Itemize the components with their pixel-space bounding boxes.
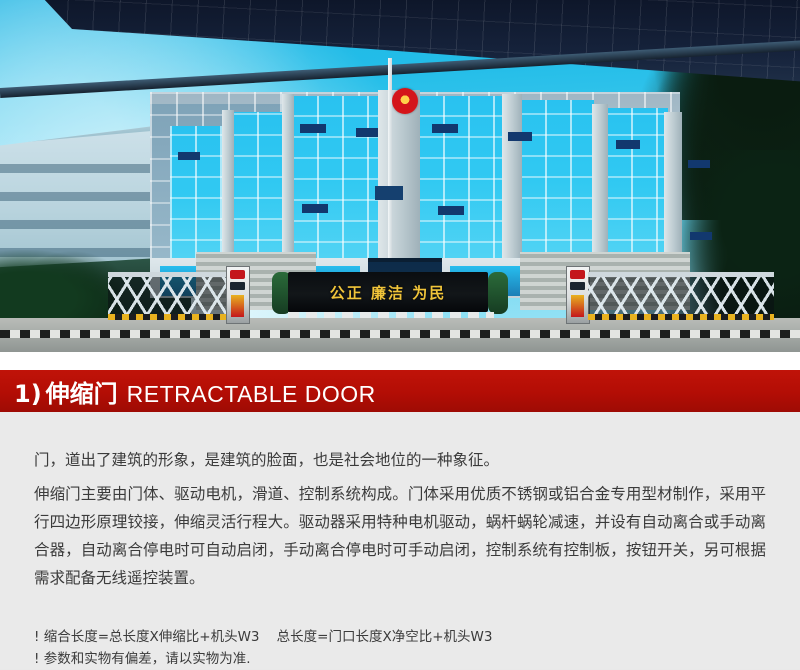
section-banner-inner: 1) 伸缩门 RETRACTABLE DOOR (0, 374, 376, 409)
gate-top-rail (108, 272, 226, 277)
section-title-en: RETRACTABLE DOOR (127, 381, 376, 408)
facade-pier (502, 94, 522, 264)
retractable-gate-right (588, 272, 774, 320)
facade-pier (592, 104, 608, 264)
photo-banner-divider (0, 352, 800, 370)
facade-pier (222, 110, 234, 264)
accent-window (178, 152, 200, 160)
glass-curtain-panel (232, 112, 282, 262)
accent-window (690, 232, 712, 240)
gate-display-icon (570, 282, 585, 290)
accent-window (432, 124, 458, 133)
product-hero-photo: 公正 廉洁 为民 (0, 0, 800, 352)
description-paragraph-2: 伸缩门主要由门体、驱动电机，滑道、控制系统构成。门体采用优质不锈钢或铝合金专用型… (0, 474, 800, 592)
flagpole-fitting (375, 186, 403, 200)
gate-lattice (588, 272, 774, 320)
gate-warning-lamp-icon (570, 270, 585, 279)
glass-curtain-panel (520, 100, 594, 262)
national-emblem-icon (392, 88, 418, 114)
gate-hazard-stripe (571, 295, 584, 317)
accent-window (356, 128, 378, 137)
section-title-cn: 伸缩门 (46, 374, 118, 409)
accent-window (688, 160, 710, 168)
gate-head-unit-left (226, 266, 250, 324)
facade-pier (378, 90, 420, 266)
glass-curtain-panel (170, 126, 222, 262)
retractable-gate-left (108, 272, 226, 320)
facade-pier (282, 94, 294, 266)
spec-note-2: ! 参数和实物有偏差，请以实物为准. (34, 648, 766, 670)
hedge-shrub (488, 272, 508, 314)
gate-warning-lamp-icon (230, 270, 245, 279)
monument-sign: 公正 廉洁 为民 (288, 272, 488, 312)
spec-note-1: ! 缩合长度=总长度X伸缩比+机头W3 总长度=门口长度X净空比+机头W3 (34, 626, 766, 648)
section-banner: 1) 伸缩门 RETRACTABLE DOOR (0, 370, 800, 412)
accent-window (300, 124, 326, 133)
accent-window (616, 140, 640, 149)
monument-sign-text: 公正 廉洁 为民 (330, 282, 446, 303)
gate-bottom-rail (108, 314, 226, 320)
gate-top-rail (588, 272, 774, 277)
glass-curtain-panel (606, 108, 668, 262)
accent-window (302, 204, 328, 213)
gate-display-icon (230, 282, 245, 290)
gate-hazard-stripe (231, 295, 244, 317)
description-content: 门，道出了建筑的形象，是建筑的脸面，也是社会地位的一种象征。 伸缩门主要由门体、… (0, 412, 800, 669)
gate-head-unit-right (566, 266, 590, 324)
gate-bottom-rail (588, 314, 774, 320)
accent-window (438, 206, 464, 215)
accent-window (508, 132, 532, 141)
curb-stripe (0, 330, 800, 338)
facade-pier (664, 112, 682, 264)
glass-curtain-panel (292, 96, 378, 264)
glass-curtain-panel (418, 96, 504, 264)
description-paragraph-1: 门，道出了建筑的形象，是建筑的脸面，也是社会地位的一种象征。 (0, 412, 800, 474)
spec-notes: ! 缩合长度=总长度X伸缩比+机头W3 总长度=门口长度X净空比+机头W3 ! … (0, 592, 800, 670)
section-number: 1) (14, 380, 42, 408)
product-detail-page: 公正 廉洁 为民 (0, 0, 800, 669)
gate-lattice (108, 272, 226, 320)
